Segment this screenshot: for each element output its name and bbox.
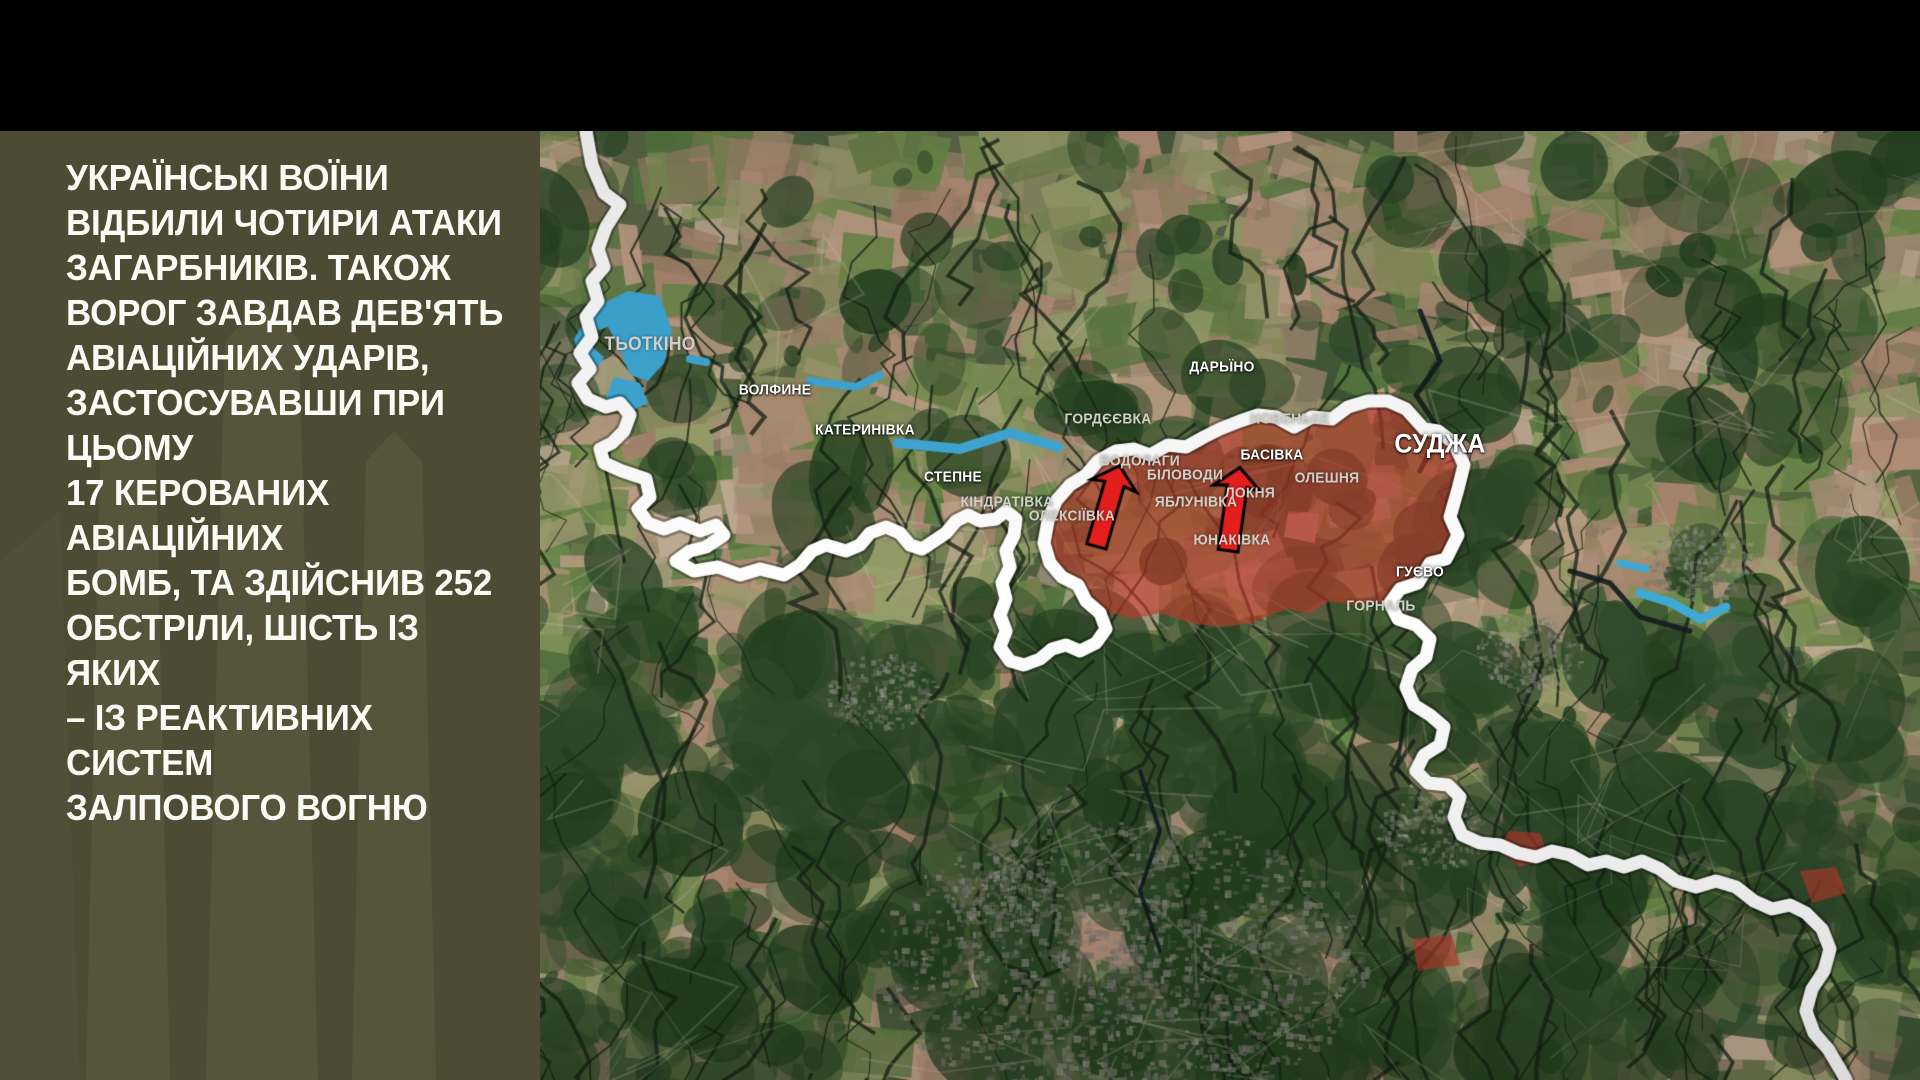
summary-text: УКРАЇНСЬКІ ВОЇНИ ВІДБИЛИ ЧОТИРИ АТАКИ ЗА… xyxy=(0,131,524,830)
infographic-slide: ТЬОТКІНОВОЛФИНЕКАТЕРИНІВКАСТЕПНЕГОРДЄЄВК… xyxy=(0,0,1920,1080)
summary-panel: УКРАЇНСЬКІ ВОЇНИ ВІДБИЛИ ЧОТИРИ АТАКИ ЗА… xyxy=(0,131,540,1080)
